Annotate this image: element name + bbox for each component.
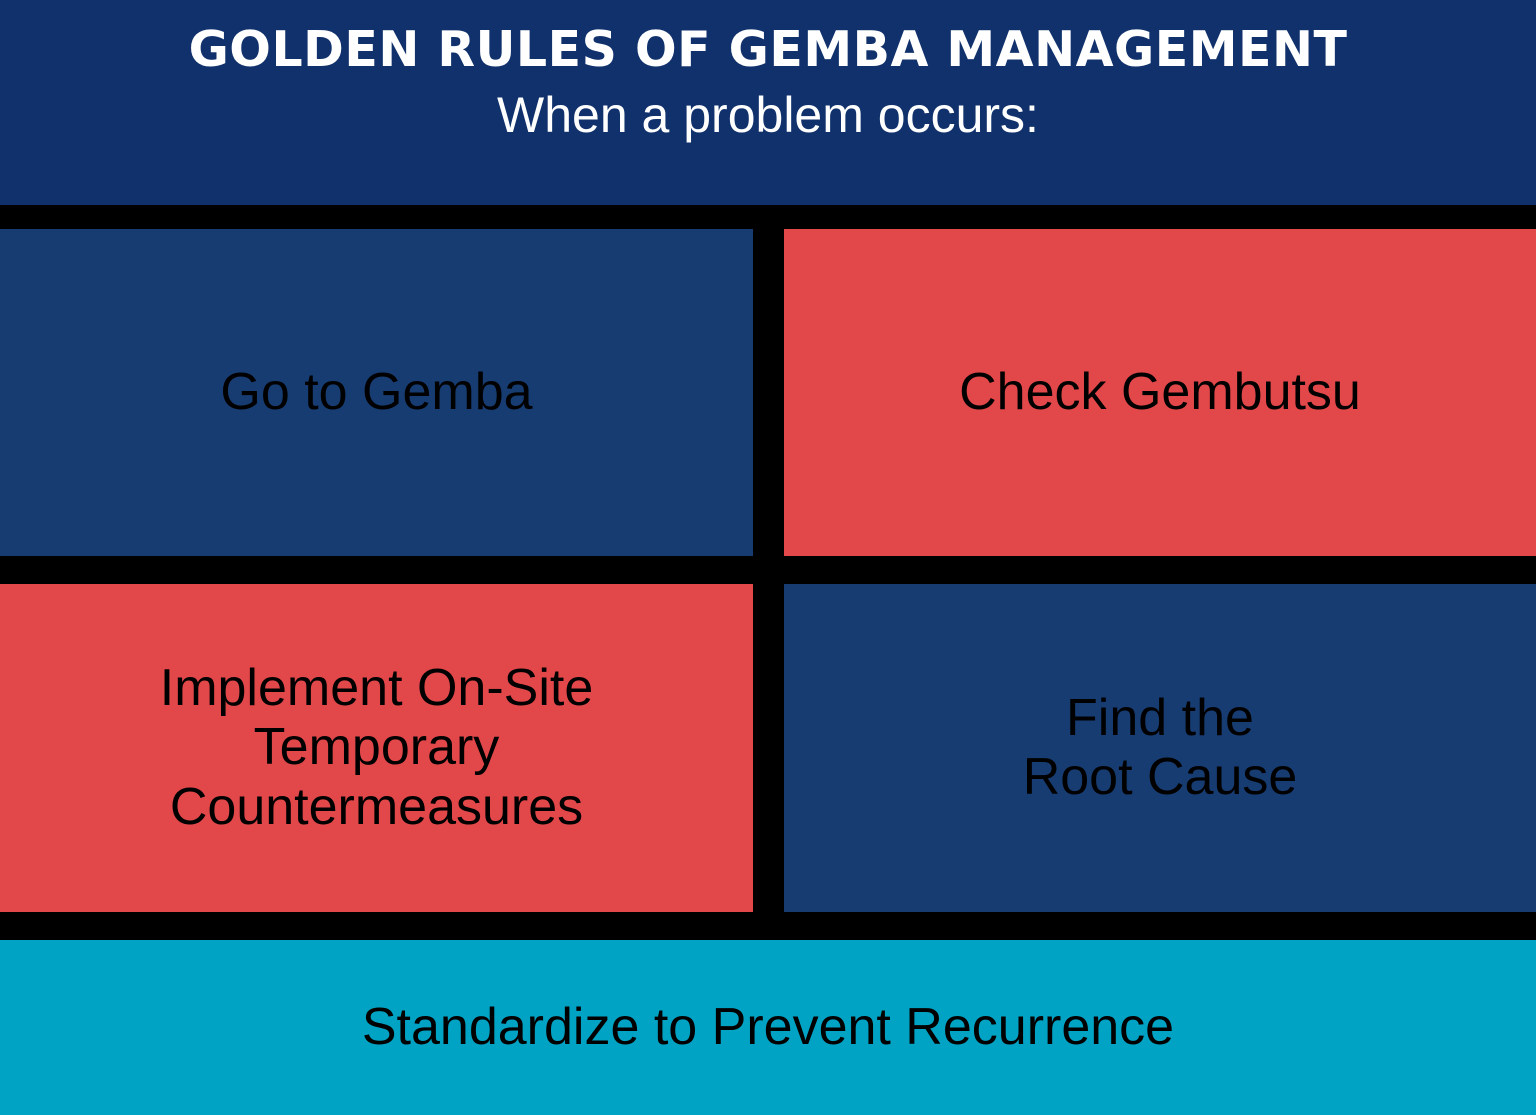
step-card-label: Go to Gemba bbox=[220, 363, 532, 422]
step-card-label: Find the Root Cause bbox=[1023, 689, 1298, 808]
step-card-find-root-cause: Find the Root Cause bbox=[784, 584, 1536, 912]
page-subtitle: When a problem occurs: bbox=[497, 89, 1039, 142]
step-card-check-gembutsu: Check Gembutsu bbox=[784, 229, 1536, 556]
step-card-standardize: Standardize to Prevent Recurrence bbox=[0, 940, 1536, 1115]
step-card-implement-countermeasures: Implement On-Site Temporary Countermeasu… bbox=[0, 584, 753, 912]
step-card-label: Standardize to Prevent Recurrence bbox=[362, 998, 1174, 1057]
step-card-label: Check Gembutsu bbox=[959, 363, 1361, 422]
step-card-go-to-gemba: Go to Gemba bbox=[0, 229, 753, 556]
page-title: GOLDEN RULES OF GEMBA MANAGEMENT bbox=[189, 24, 1348, 75]
step-card-label: Implement On-Site Temporary Countermeasu… bbox=[160, 659, 594, 837]
poster-header: GOLDEN RULES OF GEMBA MANAGEMENT When a … bbox=[0, 0, 1536, 205]
gemba-golden-rules-poster: GOLDEN RULES OF GEMBA MANAGEMENT When a … bbox=[0, 0, 1536, 1115]
